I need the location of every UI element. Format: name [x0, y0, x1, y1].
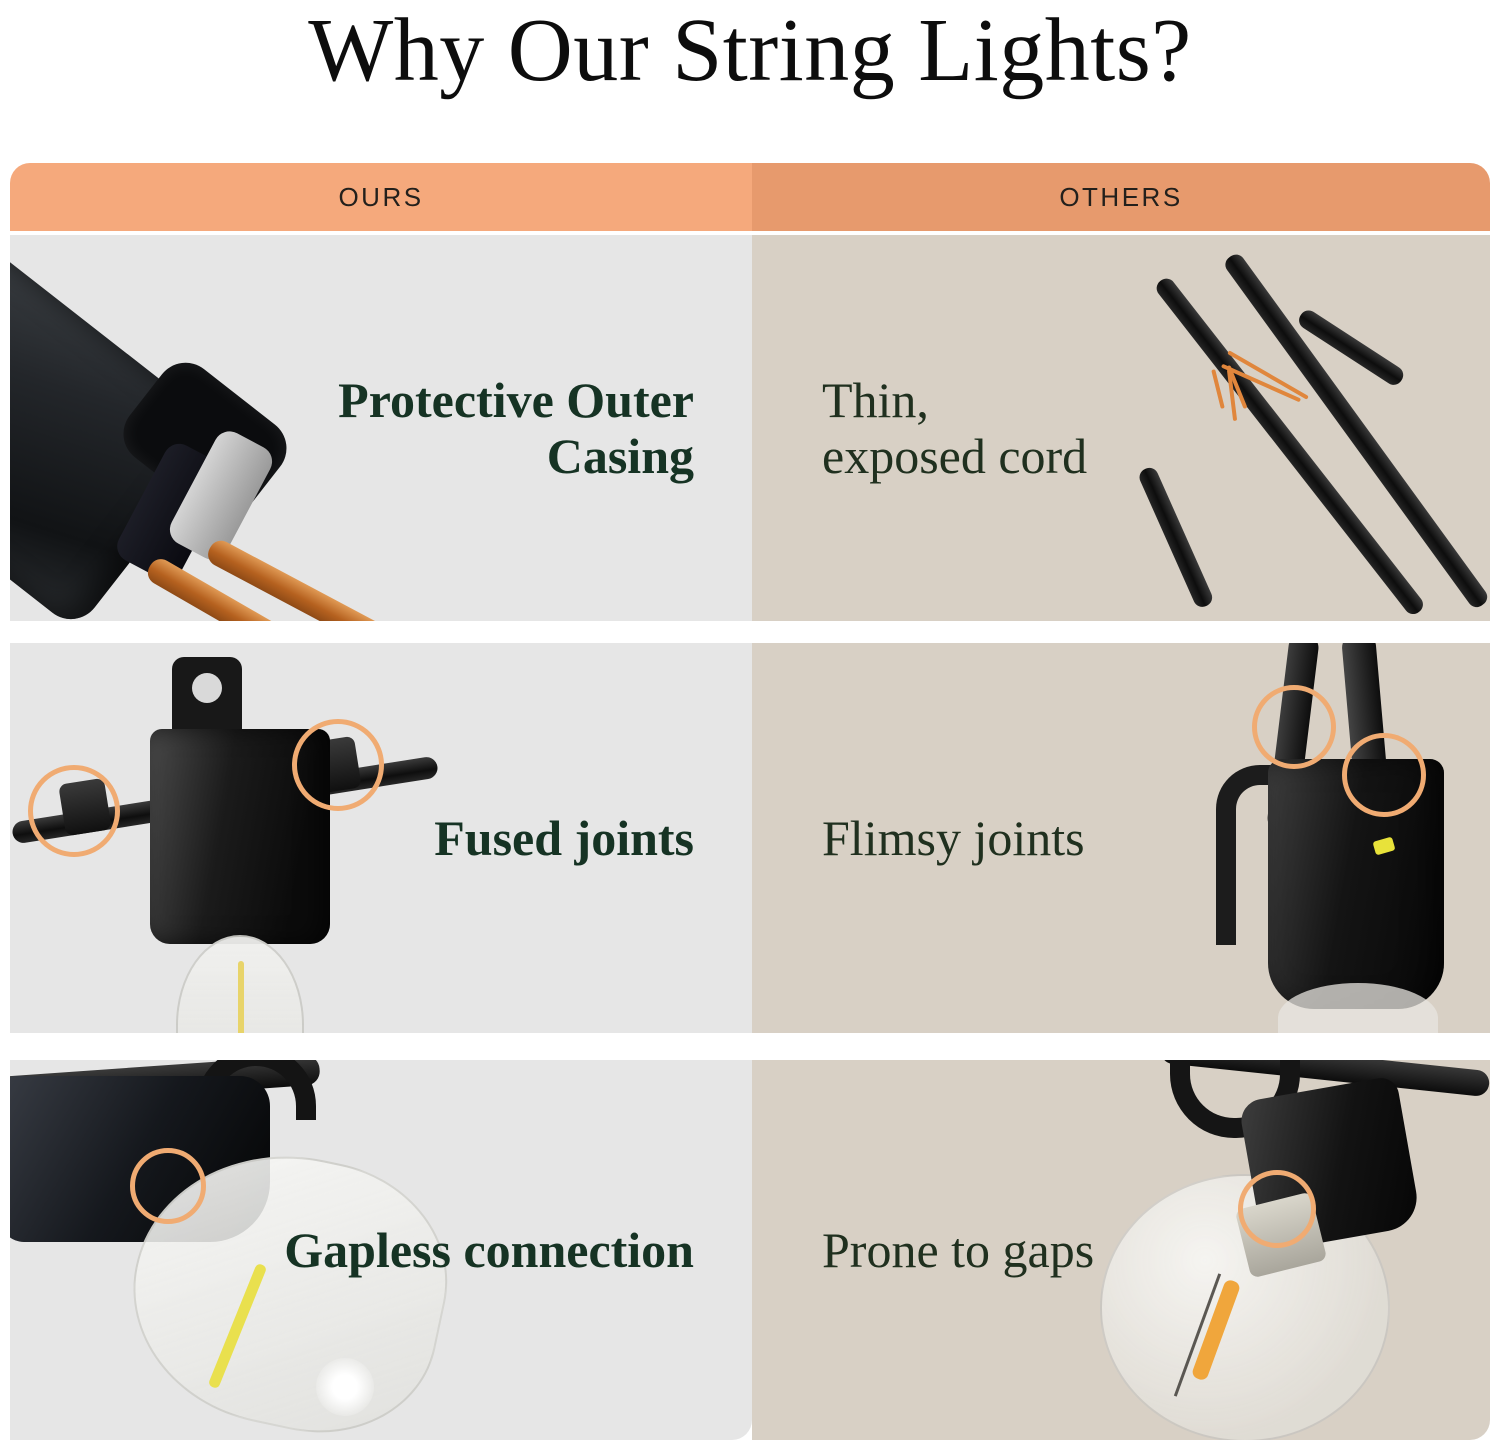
label-others-joints: Flimsy joints [752, 810, 1085, 866]
highlight-ring-icon [1342, 733, 1426, 817]
page-title: Why Our String Lights? [0, 0, 1500, 155]
label-ours-outer-casing: Protective Outer Casing [272, 372, 752, 484]
highlight-ring-icon [28, 765, 120, 857]
table-row: Gapless connection Prone to gaps [10, 1060, 1490, 1440]
table-row: Protective Outer Casing Thin, exposed co… [10, 235, 1490, 621]
label-ours-connection: Gapless connection [284, 1222, 752, 1278]
label-ours-joints: Fused joints [434, 810, 752, 866]
cell-ours-outer-casing: Protective Outer Casing [10, 235, 752, 621]
highlight-ring-icon [1238, 1170, 1316, 1248]
column-header-others: OTHERS [752, 163, 1490, 231]
cell-others-joints: Flimsy joints [752, 643, 1490, 1033]
highlight-ring-icon [292, 719, 384, 811]
label-others-connection: Prone to gaps [752, 1222, 1094, 1278]
gapped-bulb-connection-photo [1090, 1060, 1490, 1440]
flimsy-joint-socket-photo [1160, 643, 1490, 1033]
table-body: Protective Outer Casing Thin, exposed co… [10, 235, 1490, 1440]
cell-others-outer-casing: Thin, exposed cord [752, 235, 1490, 621]
highlight-ring-icon [130, 1148, 206, 1224]
fused-joint-socket-photo [10, 643, 440, 1033]
thin-exposed-cord-photo [1110, 235, 1490, 621]
column-header-ours: OURS [10, 163, 752, 231]
comparison-table: OURS OTHERS Protective Outer Casing Thin… [10, 163, 1490, 1440]
highlight-ring-icon [1252, 685, 1336, 769]
cell-others-connection: Prone to gaps [752, 1060, 1490, 1440]
table-row: Fused joints Flimsy joints [10, 643, 1490, 1033]
cell-ours-joints: Fused joints [10, 643, 752, 1033]
label-others-outer-casing: Thin, exposed cord [752, 372, 1087, 484]
cell-ours-connection: Gapless connection [10, 1060, 752, 1440]
table-header-row: OURS OTHERS [10, 163, 1490, 231]
